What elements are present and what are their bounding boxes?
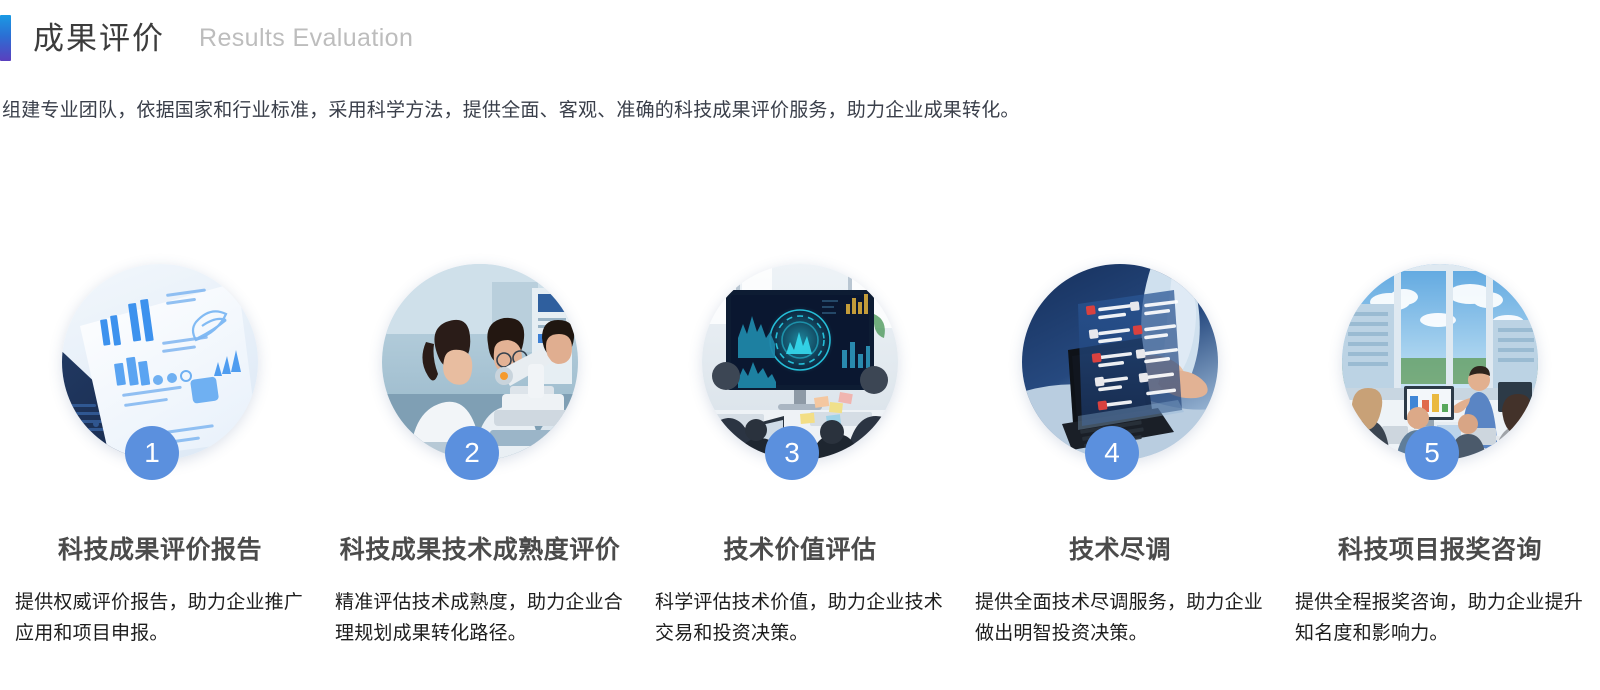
card-title: 技术尽调 <box>1069 530 1171 566</box>
page-header: 成果评价 Results Evaluation <box>0 14 413 62</box>
card-media: 2 <box>382 250 578 486</box>
service-card[interactable]: 2 科技成果技术成熟度评价 精准评估技术成熟度，助力企业合理规划成果转化路径。 <box>320 250 640 650</box>
service-card[interactable]: 5 科技项目报奖咨询 提供全程报奖咨询，助力企业提升知名度和影响力。 <box>1280 250 1600 650</box>
intro-description: 组建专业团队，依据国家和行业标准，采用科学方法，提供全面、客观、准确的科技成果评… <box>2 98 1020 125</box>
card-description: 提供全面技术尽调服务，助力企业做出明智投资决策。 <box>975 588 1265 650</box>
card-media: 1 <box>62 250 258 486</box>
card-description: 科学评估技术价值，助力企业技术交易和投资决策。 <box>655 588 945 650</box>
card-media: 5 <box>1342 250 1538 486</box>
card-description: 提供全程报奖咨询，助力企业提升知名度和影响力。 <box>1295 588 1585 650</box>
card-description: 提供权威评价报告，助力企业推广应用和项目申报。 <box>15 588 305 650</box>
service-card[interactable]: 1 科技成果评价报告 提供权威评价报告，助力企业推广应用和项目申报。 <box>0 250 320 650</box>
card-number-badge: 4 <box>1085 426 1139 480</box>
card-title: 科技成果评价报告 <box>58 530 262 566</box>
service-card[interactable]: 4 技术尽调 提供全面技术尽调服务，助力企业做出明智投资决策。 <box>960 250 1280 650</box>
card-title: 技术价值评估 <box>723 530 876 566</box>
service-card[interactable]: 3 技术价值评估 科学评估技术价值，助力企业技术交易和投资决策。 <box>640 250 960 650</box>
card-number-badge: 3 <box>765 426 819 480</box>
page-title-en: Results Evaluation <box>199 26 413 51</box>
card-media: 3 <box>702 250 898 486</box>
page-title-cn: 成果评价 <box>33 23 165 54</box>
card-number-badge: 5 <box>1405 426 1459 480</box>
card-title: 科技成果技术成熟度评价 <box>340 530 621 566</box>
service-cards-row: 1 科技成果评价报告 提供权威评价报告，助力企业推广应用和项目申报。 <box>0 250 1600 650</box>
card-number-badge: 2 <box>445 426 499 480</box>
accent-bar <box>0 15 11 61</box>
card-number-badge: 1 <box>125 426 179 480</box>
card-media: 4 <box>1022 250 1218 486</box>
card-description: 精准评估技术成熟度，助力企业合理规划成果转化路径。 <box>335 588 625 650</box>
card-title: 科技项目报奖咨询 <box>1338 530 1542 566</box>
